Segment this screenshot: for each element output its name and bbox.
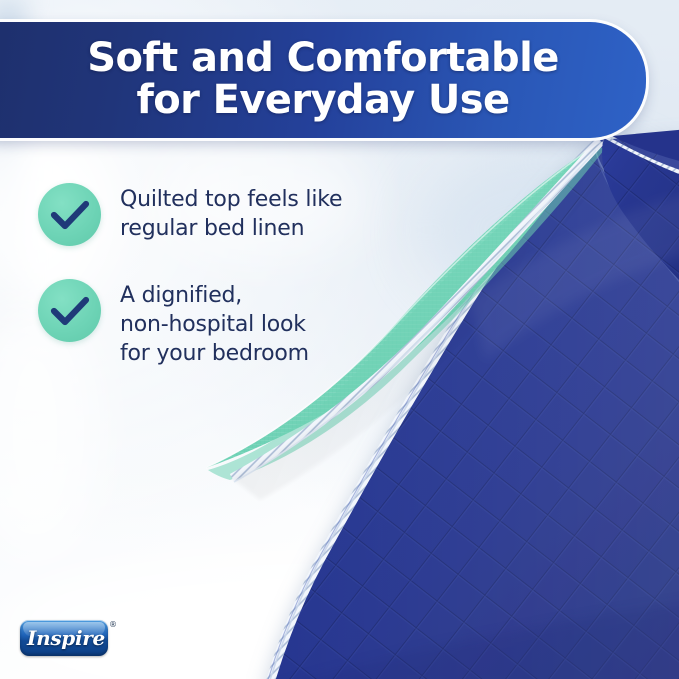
background-blur-blob xyxy=(420,150,679,310)
registered-trademark-icon: ® xyxy=(109,620,117,629)
feature-bullet-text: Quilted top feels like regular bed linen xyxy=(120,183,342,243)
feature-bullet-item: Quilted top feels like regular bed linen xyxy=(38,183,378,246)
headline-banner-text: Soft and Comfortable for Everyday Use xyxy=(61,38,558,121)
feature-bullet-line: non-hospital look xyxy=(120,310,309,339)
feature-bullet-list: Quilted top feels like regular bed linen… xyxy=(38,183,378,401)
feature-bullet-line: regular bed linen xyxy=(120,214,342,243)
brand-logo: Inspire ® xyxy=(20,620,112,660)
feature-bullet-line: for your bedroom xyxy=(120,339,309,368)
feature-bullet-line: A dignified, xyxy=(120,281,309,310)
check-icon xyxy=(38,279,101,342)
check-icon xyxy=(38,183,101,246)
brand-logo-text: Inspire xyxy=(20,626,112,650)
feature-bullet-line: Quilted top feels like xyxy=(120,185,342,214)
headline-line-1: Soft and Comfortable xyxy=(87,38,558,80)
feature-bullet-text: A dignified, non-hospital look for your … xyxy=(120,279,309,368)
headline-line-2: for Everyday Use xyxy=(87,80,558,122)
headline-banner: Soft and Comfortable for Everyday Use xyxy=(0,22,646,138)
product-image-canvas: Soft and Comfortable for Everyday Use Qu… xyxy=(0,0,679,679)
feature-bullet-item: A dignified, non-hospital look for your … xyxy=(38,279,378,368)
